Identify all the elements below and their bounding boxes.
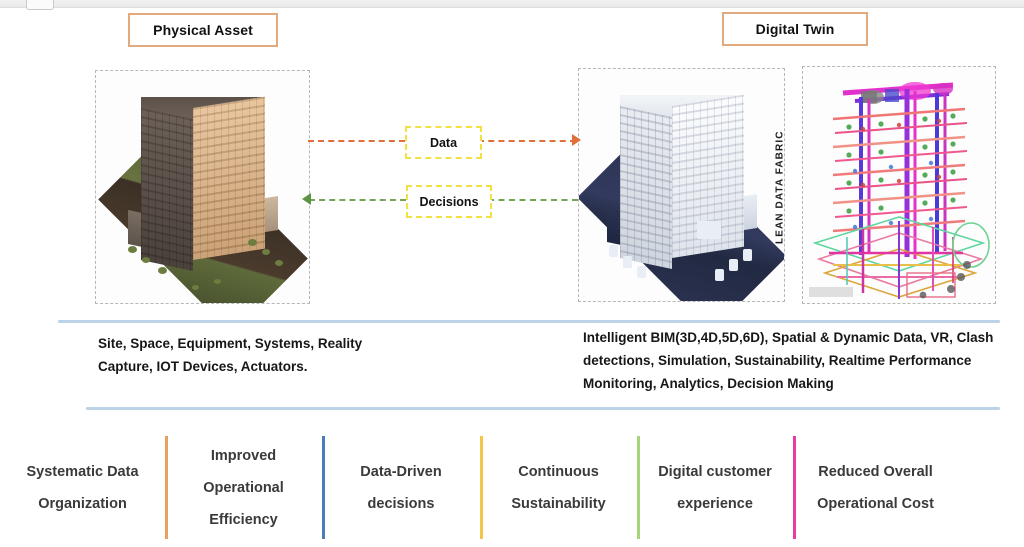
benefit-separator [322,436,325,539]
benefit-label: Improved Operational Efficiency [171,440,316,536]
window-chrome-chip [26,0,54,10]
header-physical-asset: Physical Asset [128,13,278,47]
window-chrome-strip [0,0,1024,8]
benefit-separator [793,436,796,539]
model-watermark [809,287,853,297]
decisions-flow-line-right [488,199,578,201]
slide-canvas: Physical Asset Digital Twin [0,0,1024,547]
benefit-label: Reduced Overall Operational Cost [799,456,952,520]
benefit-item: Continuous Sustainability [480,428,637,547]
decisions-flow-arrowhead-icon [302,193,311,205]
building-tower [620,106,744,258]
divider-rule-top [58,320,1000,323]
digital-twin-illustration [579,69,784,301]
bim-mep-model-image [802,66,996,304]
building-tower [141,108,265,260]
lean-data-fabric-label: LEAN DATA FABRIC [771,122,789,252]
benefit-separator [165,436,168,539]
benefit-item: Reduced Overall Operational Cost [793,428,958,547]
benefit-item: Data-Driven decisions [322,428,480,547]
physical-asset-illustration [96,71,309,303]
digital-twin-description: Intelligent BIM(3D,4D,5D,6D), Spatial & … [583,326,1003,395]
physical-asset-description: Site, Space, Equipment, Systems, Reality… [98,332,398,378]
data-flow-line-left [308,140,405,142]
decisions-flow-line-left [309,199,406,201]
benefit-item: Improved Operational Efficiency [165,428,322,547]
data-flow-label: Data [405,126,482,159]
digital-twin-image [578,68,785,302]
data-flow-line-right [478,140,576,142]
benefit-item: Systematic Data Organization [0,428,165,547]
benefit-separator [480,436,483,539]
data-flow-arrowhead-icon [572,134,581,146]
benefits-row: Systematic Data Organization Improved Op… [0,428,1024,547]
bim-mep-illustration [803,67,995,303]
benefit-label: Data-Driven decisions [328,456,474,520]
benefit-label: Continuous Sustainability [486,456,631,520]
benefit-separator [637,436,640,539]
benefit-label: Systematic Data Organization [6,456,159,520]
decisions-flow-label: Decisions [406,185,492,218]
physical-asset-image [95,70,310,304]
benefit-label: Digital customer experience [643,456,787,520]
benefit-item: Digital customer experience [637,428,793,547]
divider-rule-bottom [86,407,1000,410]
header-digital-twin: Digital Twin [722,12,868,46]
